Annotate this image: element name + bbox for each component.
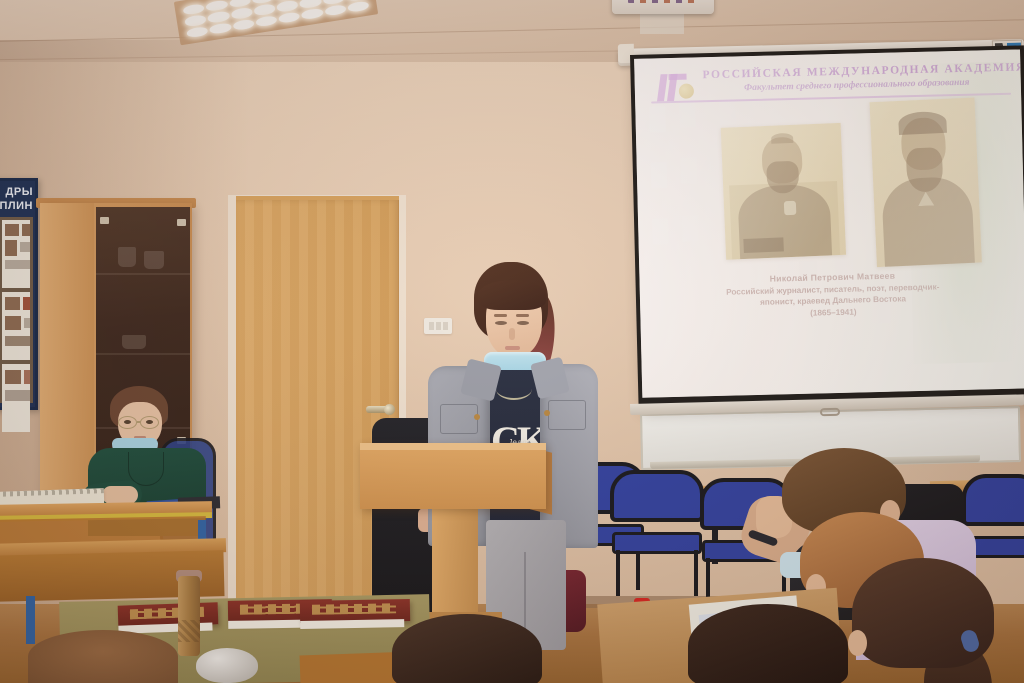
cup <box>144 251 164 269</box>
desk-leg <box>26 596 35 644</box>
candlestick-texture <box>178 620 200 642</box>
teacher-hand <box>102 486 138 504</box>
silver-object <box>196 648 258 683</box>
board-title: ДРЫ ПЛИН <box>0 185 35 213</box>
presenter-eyebrow <box>516 314 529 317</box>
student-dark-hair-center <box>688 604 848 683</box>
lectern-top-edge <box>360 443 546 450</box>
projector-glare <box>634 49 1024 397</box>
dish <box>122 335 146 349</box>
cabinet-hinge <box>100 217 109 224</box>
fur-object-foreground <box>28 630 178 683</box>
projection-screen: РОССИЙСКАЯ МЕЖДУНАРОДНАЯ АКАДЕМИЯ ТУРИЗМ… <box>630 45 1024 407</box>
jacket-pocket <box>440 404 478 434</box>
ceiling-projector <box>612 0 714 14</box>
lectern-column <box>432 505 478 627</box>
board-card <box>2 220 30 288</box>
wall-information-board: ДРЫ ПЛИН <box>0 178 38 410</box>
jacket-button <box>474 414 480 420</box>
board-card <box>2 292 30 360</box>
presentation-slide: РОССИЙСКАЯ МЕЖДУНАРОДНАЯ АКАДЕМИЯ ТУРИЗМ… <box>634 49 1024 397</box>
student-girl-ponytail <box>852 558 994 683</box>
door-handle-rose <box>384 404 395 415</box>
presenter-mouth <box>505 346 520 350</box>
display-book <box>118 602 219 627</box>
cabinet-hinge <box>177 219 186 226</box>
screen-pull-handle[interactable] <box>820 408 840 416</box>
projector-mount <box>640 12 684 34</box>
student-ear <box>848 630 867 656</box>
presenter-fringe <box>478 280 546 310</box>
presenter-eyebrow <box>494 314 507 317</box>
jacket-pocket <box>548 400 586 430</box>
classroom-presentation-photo: ДРЫ ПЛИН <box>0 0 1024 683</box>
student-dark-hair-left <box>392 614 542 683</box>
lectern[interactable] <box>360 443 546 509</box>
classroom-chair[interactable] <box>610 470 704 598</box>
projection-screen-surface: РОССИЙСКАЯ МЕЖДУНАРОДНАЯ АКАДЕМИЯ ТУРИЗМ… <box>634 49 1024 397</box>
projector-ports <box>628 0 698 3</box>
presenter-eye <box>495 321 507 325</box>
cabinet-shelf <box>96 353 190 355</box>
cup <box>118 247 136 267</box>
cabinet-shelf <box>96 273 190 275</box>
jacket-button <box>544 410 550 416</box>
eyeglasses-icon <box>118 416 137 429</box>
necklace <box>496 378 532 400</box>
presenter-eye <box>517 321 529 325</box>
board-card <box>2 364 30 432</box>
wooden-candlestick <box>178 576 200 656</box>
eyeglasses-icon <box>140 416 159 429</box>
eyeglasses-bridge <box>137 421 141 423</box>
board-inner-panel <box>0 217 33 403</box>
presenter-nose <box>509 328 515 340</box>
